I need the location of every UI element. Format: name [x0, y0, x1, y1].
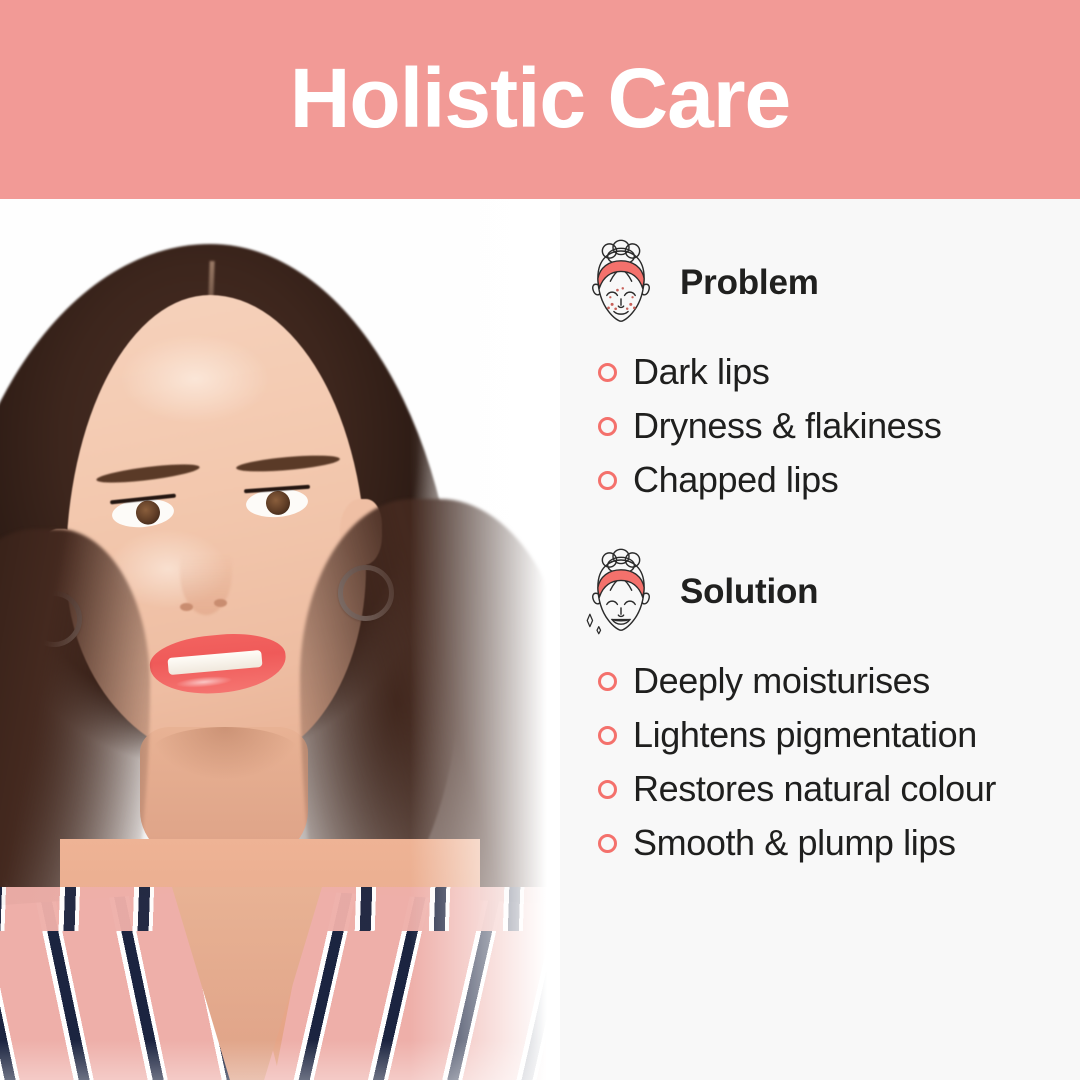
nostril-right: [214, 599, 227, 607]
iris-left: [135, 500, 161, 526]
list-item-label: Chapped lips: [633, 459, 838, 501]
section-problem-header: Problem: [560, 235, 1080, 331]
section-solution-title: Solution: [680, 572, 818, 612]
content-panel: Problem Dark lips Dryness & flakiness Ch…: [560, 199, 1080, 1080]
nostril-left: [180, 603, 193, 611]
section-problem-title: Problem: [680, 263, 819, 303]
model-photo: [0, 199, 600, 1080]
section-solution-header: Solution: [560, 544, 1080, 640]
list-item: Chapped lips: [598, 453, 1080, 507]
bullet-dot-icon: [598, 417, 617, 436]
bullet-dot-icon: [598, 780, 617, 799]
forehead-highlight: [120, 334, 270, 424]
section-solution: Solution Deeply moisturises Lightens pig…: [560, 544, 1080, 870]
page-title: Holistic Care: [290, 56, 791, 144]
bullet-dot-icon: [598, 672, 617, 691]
list-item: Lightens pigmentation: [598, 708, 1080, 762]
list-item-label: Restores natural colour: [633, 768, 996, 810]
list-item-label: Lightens pigmentation: [633, 714, 977, 756]
solution-list: Deeply moisturises Lightens pigmentation…: [560, 640, 1080, 870]
list-item: Smooth & plump lips: [598, 816, 1080, 870]
neck-shadow: [150, 727, 300, 779]
bullet-dot-icon: [598, 726, 617, 745]
header-band: Holistic Care: [0, 0, 1080, 199]
list-item: Restores natural colour: [598, 762, 1080, 816]
list-item-label: Dryness & flakiness: [633, 405, 942, 447]
list-item: Dark lips: [598, 345, 1080, 399]
list-item: Deeply moisturises: [598, 654, 1080, 708]
bullet-dot-icon: [598, 471, 617, 490]
face-with-blemishes-icon: [576, 235, 666, 331]
face-with-clear-skin-icon: [576, 544, 666, 640]
promo-card: Holistic Care: [0, 0, 1080, 1080]
list-item-label: Smooth & plump lips: [633, 822, 956, 864]
list-item-label: Deeply moisturises: [633, 660, 930, 702]
list-item-label: Dark lips: [633, 351, 769, 393]
bullet-dot-icon: [598, 834, 617, 853]
iris-right: [265, 490, 291, 516]
photo-bottom-fade: [0, 1040, 600, 1080]
problem-list: Dark lips Dryness & flakiness Chapped li…: [560, 331, 1080, 507]
bullet-dot-icon: [598, 363, 617, 382]
list-item: Dryness & flakiness: [598, 399, 1080, 453]
section-problem: Problem Dark lips Dryness & flakiness Ch…: [560, 235, 1080, 507]
